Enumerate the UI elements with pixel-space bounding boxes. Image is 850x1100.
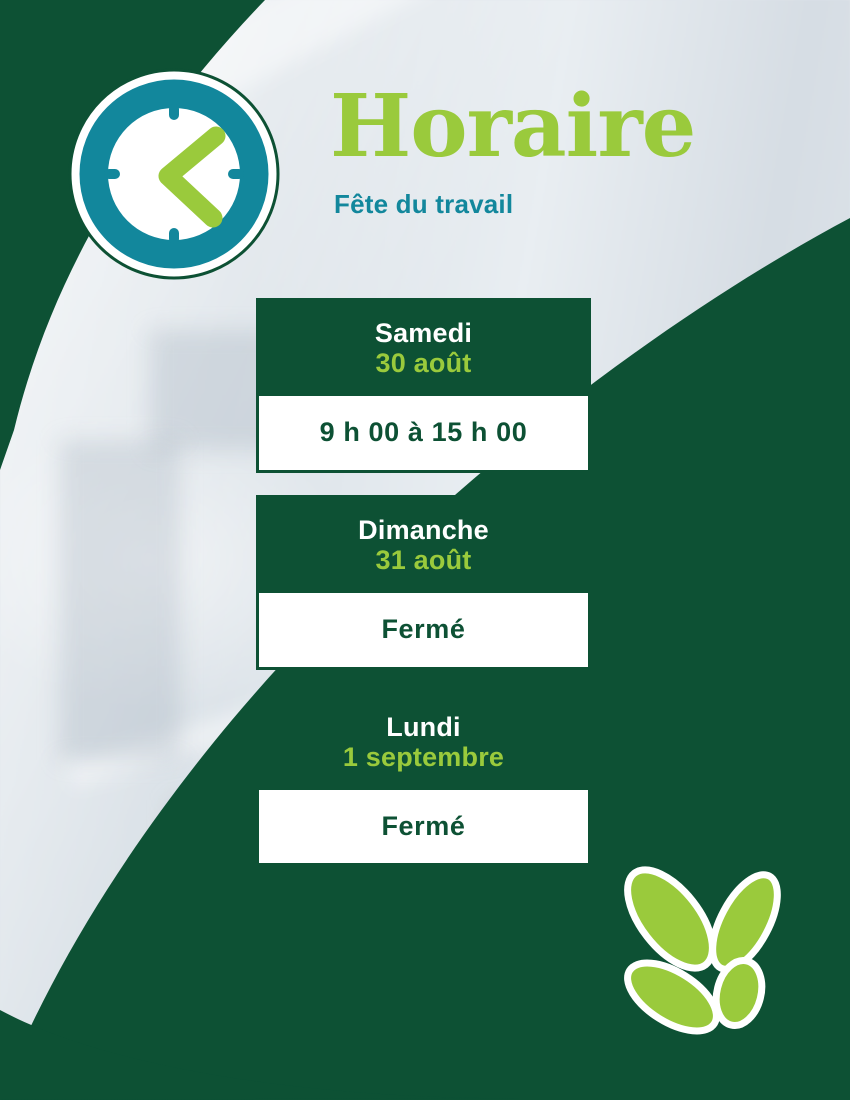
page-subtitle: Fête du travail <box>334 189 810 220</box>
schedule-hours: Fermé <box>267 812 580 842</box>
page-title: Horaire <box>330 86 810 169</box>
butterfly-logo-icon <box>612 858 802 1053</box>
schedule-card-header: Lundi 1 septembre <box>256 692 591 790</box>
schedule-day: Lundi <box>266 712 581 742</box>
schedule-card-body: 9 h 00 à 15 h 00 <box>256 396 591 473</box>
schedule-card-header: Samedi 30 août <box>256 298 591 396</box>
schedule-card-header: Dimanche 31 août <box>256 495 591 593</box>
schedule-hours: 9 h 00 à 15 h 00 <box>267 418 580 448</box>
poster-header: Horaire Fête du travail <box>330 86 810 220</box>
schedule-day: Dimanche <box>266 515 581 545</box>
schedule-card-body: Fermé <box>256 790 591 867</box>
poster-canvas: Horaire Fête du travail Samedi 30 août 9… <box>0 0 850 1100</box>
schedule-card: Lundi 1 septembre Fermé <box>256 692 591 867</box>
clock-icon <box>68 68 280 280</box>
schedule-day: Samedi <box>266 318 581 348</box>
schedule-date: 30 août <box>266 348 581 380</box>
butterfly-petal-top-left <box>612 858 729 983</box>
schedule-date: 1 septembre <box>266 742 581 774</box>
schedule-card: Dimanche 31 août Fermé <box>256 495 591 670</box>
schedule-hours: Fermé <box>267 615 580 645</box>
schedule-card-body: Fermé <box>256 593 591 670</box>
schedule-date: 31 août <box>266 545 581 577</box>
schedule-card: Samedi 30 août 9 h 00 à 15 h 00 <box>256 298 591 473</box>
schedule-list: Samedi 30 août 9 h 00 à 15 h 00 Dimanche… <box>256 298 591 866</box>
